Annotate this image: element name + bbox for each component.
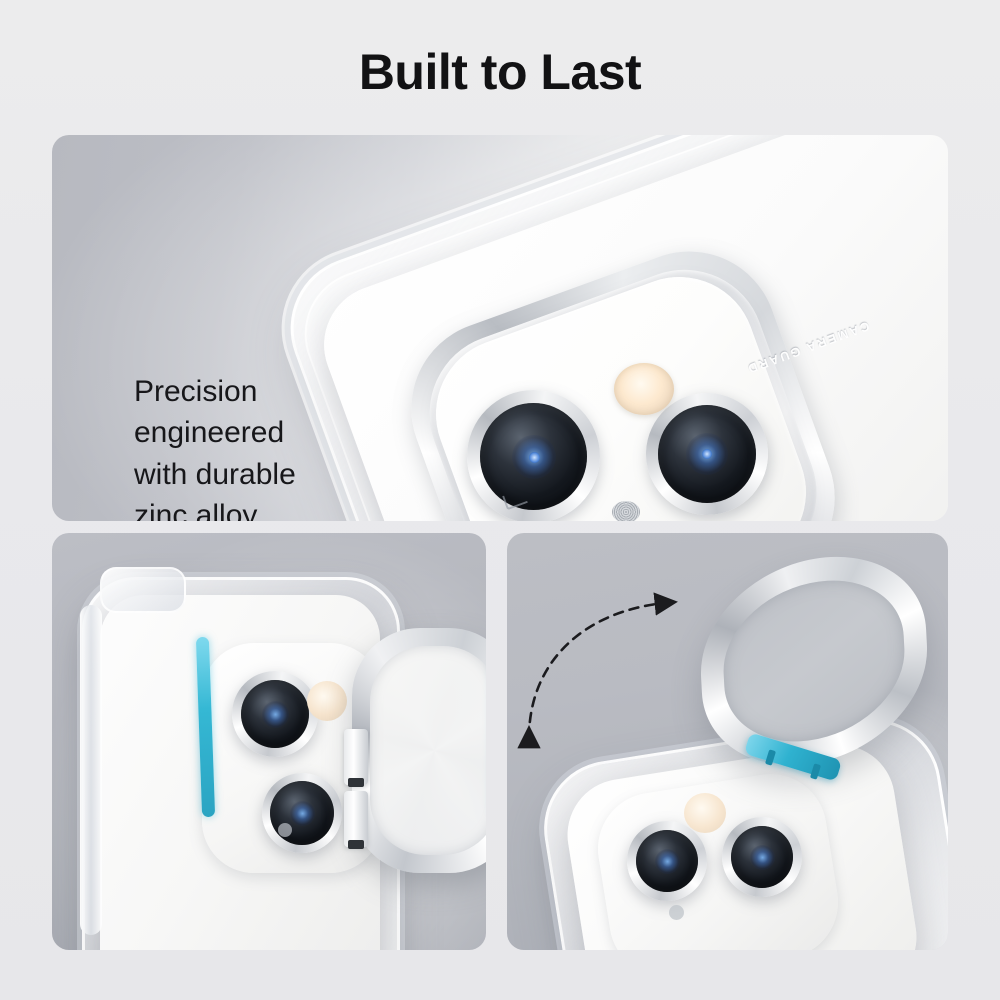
caption-line: engineered [134, 412, 296, 453]
arrow-path [529, 603, 665, 738]
case-side-rail [80, 605, 102, 935]
lens-flare-secondary [750, 845, 775, 870]
lens-flare-primary [655, 849, 680, 874]
lens-flare-primary [262, 701, 289, 728]
easy-to-open-card: Easy to open [52, 533, 486, 950]
microphone-mesh-icon [612, 501, 640, 521]
caption-line: zinc alloy [134, 495, 296, 521]
hinge-pin-upper [348, 778, 364, 787]
camera-flash-icon [614, 363, 674, 415]
open-guard-illustration [52, 533, 486, 950]
page-title: Built to Last [0, 44, 1000, 100]
product-feature-page: Built to Last CAMERA GUARD Precision [0, 0, 1000, 1000]
guard-frame-aperture [370, 646, 486, 855]
hinge-lower [344, 791, 368, 847]
hinge-upper [344, 729, 368, 785]
case-button-cover [100, 567, 186, 613]
lens-core-primary [529, 452, 540, 463]
camera-flash-icon [307, 681, 347, 721]
top-card-caption: Precision engineered with durable zinc a… [134, 371, 296, 521]
caption-line: with durable [134, 454, 296, 495]
precision-engineering-card: CAMERA GUARD Precision engineered with d… [52, 135, 948, 521]
microphone-icon [669, 905, 684, 920]
microphone-icon [278, 823, 292, 837]
camera-flash-icon [684, 793, 726, 833]
lens-core-secondary [702, 449, 712, 459]
lens-flare-secondary [290, 801, 315, 826]
caption-line: Precision [134, 371, 296, 412]
ring-lift-illustration [507, 533, 948, 950]
durability-test-card: Tested to withstand 3,000 uses [507, 533, 948, 950]
hinge-pin-lower [348, 840, 364, 849]
